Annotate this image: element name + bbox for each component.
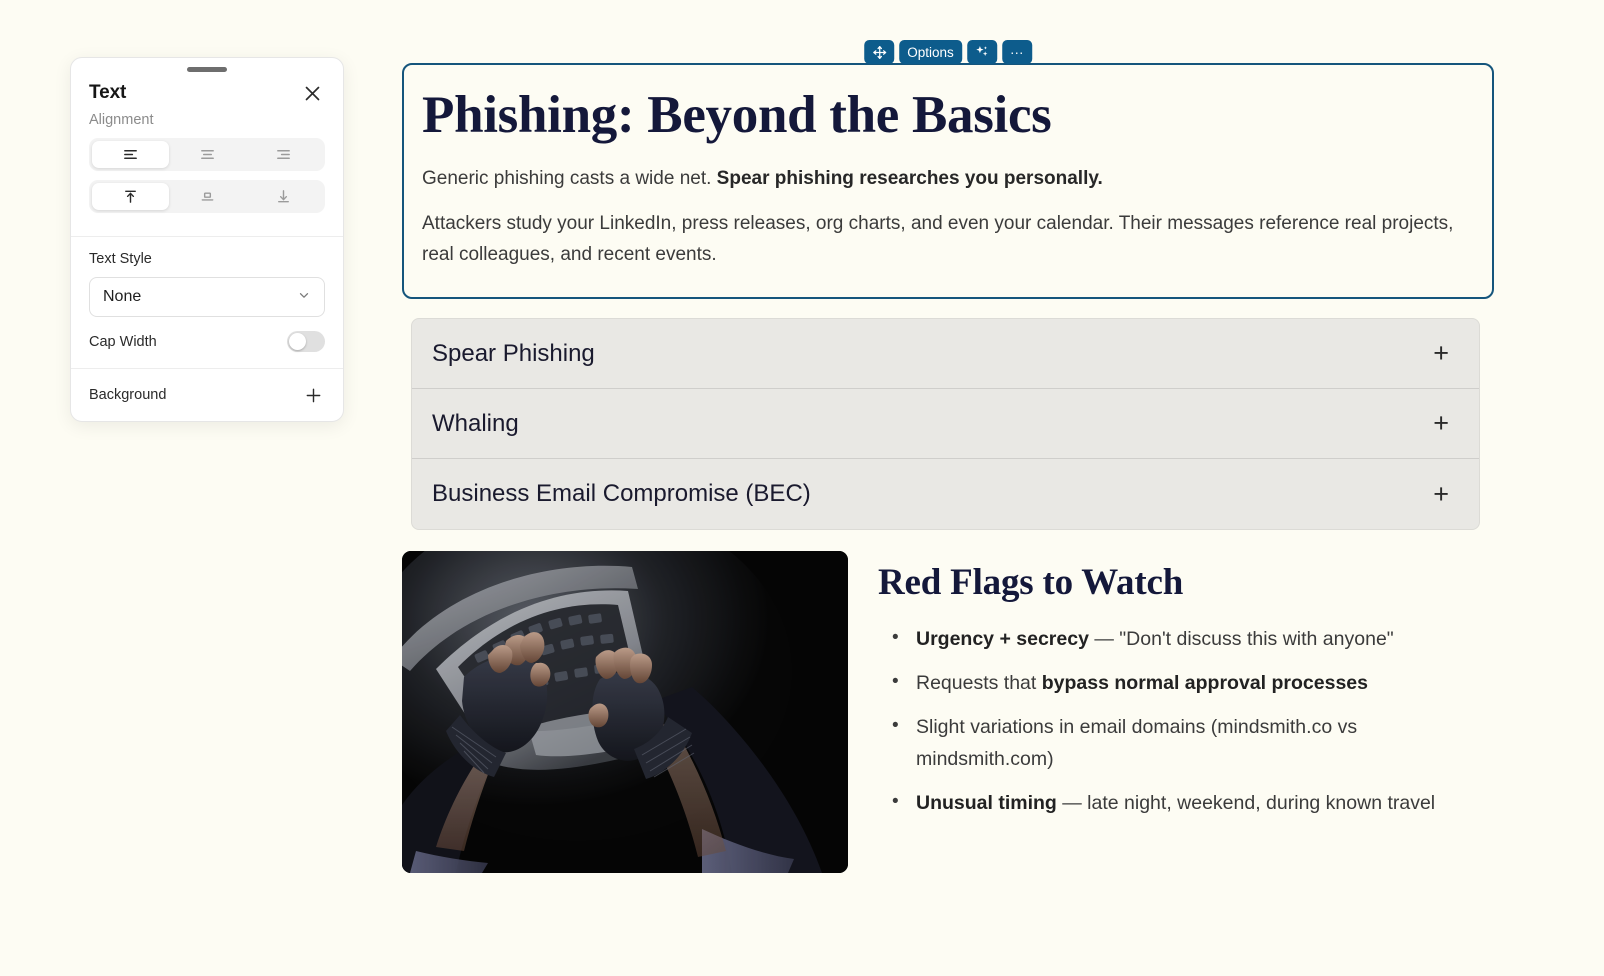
accordion-item-label: Spear Phishing xyxy=(432,340,595,368)
alignment-section: Alignment xyxy=(71,106,343,236)
cap-width-section: Cap Width xyxy=(71,331,343,368)
flag-rest: — late night, weekend, during known trav… xyxy=(1057,792,1435,814)
move-icon[interactable] xyxy=(864,40,894,64)
cap-width-label: Cap Width xyxy=(89,334,157,350)
hacker-laptop-illustration xyxy=(402,551,848,873)
accordion-item-label: Business Email Compromise (BEC) xyxy=(432,480,811,508)
align-bottom-button[interactable] xyxy=(245,183,322,210)
intro-plain: Generic phishing casts a wide net. xyxy=(422,168,717,189)
accordion-item-bec[interactable]: Business Email Compromise (BEC) + xyxy=(412,459,1479,529)
block-floating-toolbar: Options ··· xyxy=(864,40,1032,64)
text-block[interactable]: Options ··· Phishing: Beyond the Basics … xyxy=(402,63,1494,299)
align-left-button[interactable] xyxy=(92,141,169,168)
text-properties-panel: Text Alignment xyxy=(70,57,344,422)
editor-canvas: Text Alignment xyxy=(0,0,1604,976)
detail-paragraph: Attackers study your LinkedIn, press rel… xyxy=(422,209,1474,271)
text-style-label: Text Style xyxy=(89,251,325,267)
accordion-item-whaling[interactable]: Whaling + xyxy=(412,389,1479,459)
accordion-item-label: Whaling xyxy=(432,410,519,438)
cap-width-toggle[interactable] xyxy=(287,331,325,352)
red-flags-list: Urgency + secrecy — "Don't discuss this … xyxy=(878,624,1494,819)
bottom-section: Red Flags to Watch Urgency + secrecy — "… xyxy=(402,551,1494,873)
list-item: Unusual timing — late night, weekend, du… xyxy=(886,788,1494,819)
intro-bold: Spear phishing researches you personally… xyxy=(717,168,1103,189)
plus-icon[interactable]: + xyxy=(1433,410,1449,437)
selected-content-area: Options ··· Phishing: Beyond the Basics … xyxy=(402,63,1494,299)
hacker-laptop-image[interactable] xyxy=(402,551,848,873)
panel-title: Text xyxy=(89,82,126,104)
alignment-label: Alignment xyxy=(89,112,325,128)
panel-header: Text xyxy=(71,72,343,106)
background-section: Background xyxy=(71,369,343,421)
flag-plain-lead: Slight variations in email domains (mind… xyxy=(916,716,1357,769)
text-style-section: Text Style None xyxy=(71,237,343,331)
plus-icon[interactable]: + xyxy=(1433,340,1449,367)
sparkle-icon[interactable] xyxy=(967,40,997,64)
flag-bold-lead: Urgency + secrecy xyxy=(916,628,1089,650)
page-title: Phishing: Beyond the Basics xyxy=(422,87,1474,144)
intro-paragraph: Generic phishing casts a wide net. Spear… xyxy=(422,164,1474,195)
flag-bold-lead: Unusual timing xyxy=(916,792,1057,814)
toggle-knob xyxy=(289,333,306,350)
list-item: Slight variations in email domains (mind… xyxy=(886,712,1494,774)
options-button[interactable]: Options xyxy=(899,40,962,64)
list-item: Requests that bypass normal approval pro… xyxy=(886,668,1494,699)
accordion-item-spear-phishing[interactable]: Spear Phishing + xyxy=(412,319,1479,389)
list-item: Urgency + secrecy — "Don't discuss this … xyxy=(886,624,1494,655)
flag-plain-lead: Requests that xyxy=(916,672,1042,694)
accordion-list: Spear Phishing + Whaling + Business Emai… xyxy=(411,318,1480,530)
vertical-alignment-group xyxy=(89,180,325,213)
align-center-button[interactable] xyxy=(169,141,246,168)
red-flags-section: Red Flags to Watch Urgency + secrecy — "… xyxy=(878,551,1494,873)
more-options-icon[interactable]: ··· xyxy=(1002,40,1032,64)
add-background-button[interactable] xyxy=(301,383,325,407)
close-icon[interactable] xyxy=(299,80,325,106)
horizontal-alignment-group xyxy=(89,138,325,171)
align-middle-button[interactable] xyxy=(169,183,246,210)
chevron-down-icon xyxy=(297,288,311,307)
align-top-button[interactable] xyxy=(92,183,169,210)
background-label: Background xyxy=(89,387,166,403)
red-flags-title: Red Flags to Watch xyxy=(878,561,1494,604)
plus-icon[interactable]: + xyxy=(1433,481,1449,508)
flag-rest: — "Don't discuss this with anyone" xyxy=(1089,628,1394,650)
text-style-select[interactable]: None xyxy=(89,277,325,317)
text-style-value: None xyxy=(103,288,141,306)
align-right-button[interactable] xyxy=(245,141,322,168)
flag-bold-tail: bypass normal approval processes xyxy=(1042,672,1368,694)
